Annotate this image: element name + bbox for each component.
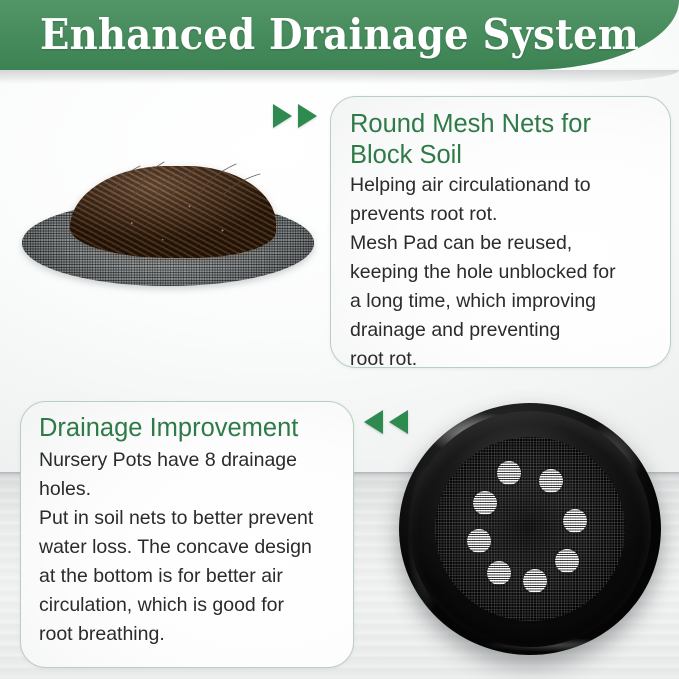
card-round-mesh-nets-body: Helping air circulationand to prevents r…: [350, 171, 654, 374]
drainage-hole: [467, 529, 491, 553]
infographic-page: Enhanced Drainage System Round Mesh Nets…: [0, 0, 679, 679]
triangle-left-icon-1: [364, 410, 383, 434]
triangle-right-icon-2: [298, 104, 317, 128]
soil-pile: [70, 166, 276, 258]
drainage-hole: [563, 509, 587, 533]
page-title: Enhanced Drainage System: [27, 4, 652, 66]
drainage-hole: [487, 561, 511, 585]
card-drainage-improvement-title: Drainage Improvement: [39, 413, 339, 444]
drainage-hole: [497, 461, 521, 485]
drainage-hole: [523, 569, 547, 593]
mesh-with-soil-photo: [14, 152, 322, 308]
double-triangle-left-icon: [364, 410, 408, 434]
header-banner: Enhanced Drainage System: [0, 0, 679, 70]
triangle-right-icon-1: [273, 104, 292, 128]
triangle-left-icon-2: [389, 410, 408, 434]
card-drainage-improvement-body: Nursery Pots have 8 drainage holes. Put …: [39, 446, 339, 649]
card-round-mesh-nets-title: Round Mesh Nets for Block Soil: [350, 109, 654, 171]
pot-interior: [435, 437, 625, 621]
nursery-pot-photo: [399, 403, 667, 665]
card-round-mesh-nets: Round Mesh Nets for Block Soil Helping a…: [330, 96, 671, 368]
drainage-hole: [555, 549, 579, 573]
drainage-hole: [473, 491, 497, 515]
double-triangle-right-icon: [273, 104, 317, 128]
pot-outer-wall: [399, 403, 661, 655]
drainage-hole: [539, 469, 563, 493]
card-drainage-improvement: Drainage Improvement Nursery Pots have 8…: [20, 401, 354, 668]
